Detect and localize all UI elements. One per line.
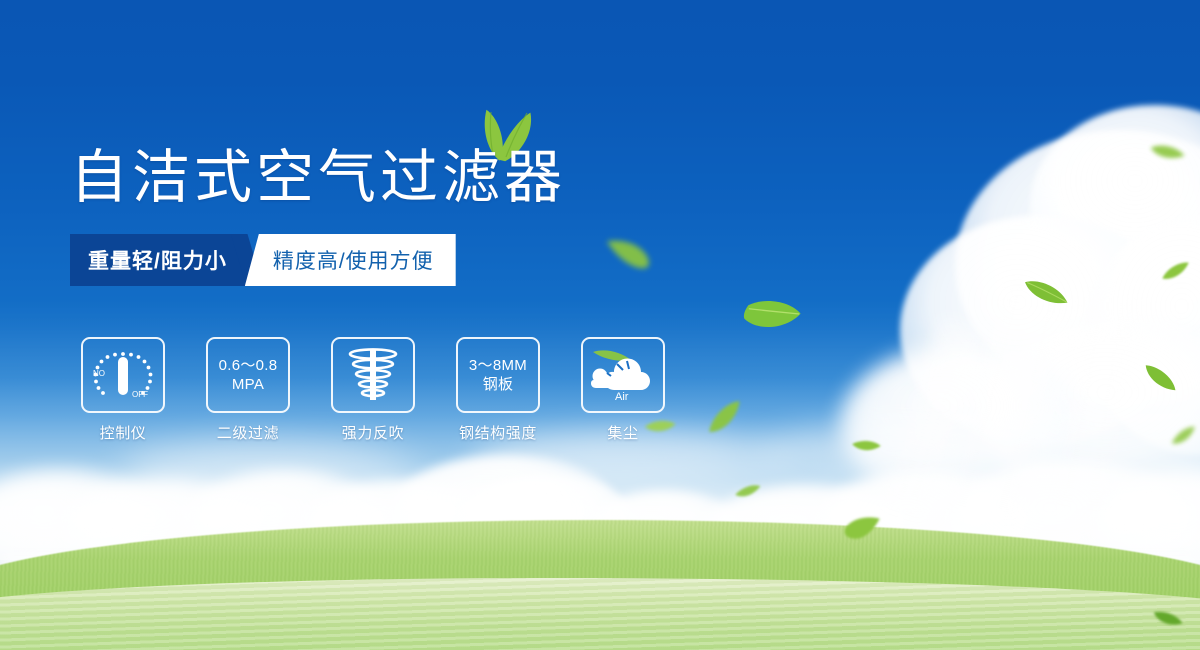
feature-icon-text-secondary: 钢板 xyxy=(483,375,514,394)
feature-item-steel-plate[interactable]: 3～8MM 钢板 钢结构强度 xyxy=(456,337,540,443)
leaf-icon xyxy=(702,399,749,440)
tagline-left: 重量轻/阻力小 xyxy=(70,234,247,286)
feature-icon-box: 0.6～0.8 MPA xyxy=(206,337,290,413)
feature-label: 集尘 xyxy=(581,422,665,443)
feature-label: 二级过滤 xyxy=(206,422,290,443)
tagline-bar: 重量轻/阻力小 精度高/使用方便 xyxy=(70,234,456,286)
gauge-no-label: NO xyxy=(93,369,105,378)
leaf-icon xyxy=(740,288,803,344)
gauge-off-label: OFF xyxy=(132,390,148,399)
grass-field-near xyxy=(0,578,1200,650)
hero-banner: 自洁式空气过滤器 重量轻/阻力小 精度高/使用方便 xyxy=(0,0,1200,650)
feature-label: 强力反吹 xyxy=(331,422,415,443)
feature-item-control-gauge[interactable]: NO OFF 控制仪 xyxy=(81,337,165,443)
feature-icon-box xyxy=(331,337,415,413)
gauge-icon: NO OFF xyxy=(90,346,156,404)
feature-label: 控制仪 xyxy=(81,422,165,443)
cloud-air-icon: Air xyxy=(587,346,659,404)
feature-item-pressure[interactable]: 0.6～0.8 MPA 二级过滤 xyxy=(206,337,290,443)
leaf-icon xyxy=(601,230,657,276)
feature-icon-text-secondary: MPA xyxy=(232,375,264,394)
feature-icon-box: 3～8MM 钢板 xyxy=(456,337,540,413)
feature-icon-box: Air xyxy=(581,337,665,413)
page-title: 自洁式空气过滤器 xyxy=(70,143,566,213)
feature-item-dust-collection[interactable]: Air 集尘 xyxy=(581,337,665,443)
feature-icon-text-primary: 0.6～0.8 xyxy=(219,356,278,375)
feature-icon-box: NO OFF xyxy=(81,337,165,413)
tagline-right: 精度高/使用方便 xyxy=(245,234,456,286)
feature-list: NO OFF 控制仪 0.6～0.8 MPA 二级过滤 xyxy=(81,337,665,443)
feature-label: 钢结构强度 xyxy=(456,422,540,443)
coil-spring-icon xyxy=(345,346,401,404)
cloud-air-label: Air xyxy=(615,391,629,403)
feature-item-backblow[interactable]: 强力反吹 xyxy=(331,337,415,443)
feature-icon-text-primary: 3～8MM xyxy=(469,356,527,375)
